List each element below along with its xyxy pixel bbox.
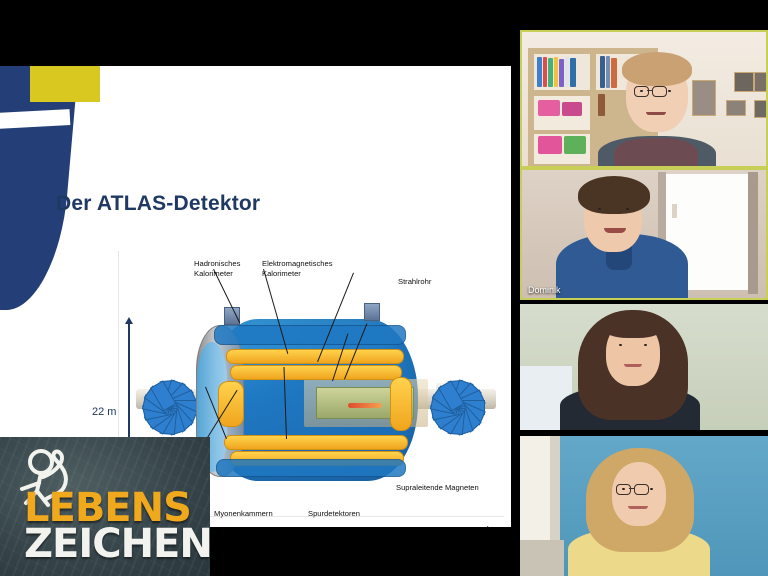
muon-chamber-top bbox=[214, 325, 406, 345]
callout-tracking-detectors: Spurdetektoren bbox=[308, 509, 360, 519]
window-latch-2 bbox=[672, 204, 677, 218]
participant-rail: Dominik bbox=[512, 0, 768, 576]
participant-3-mouth bbox=[624, 364, 642, 367]
participant-2-hair bbox=[578, 176, 650, 214]
book-3 bbox=[548, 58, 553, 87]
app-screen: Der ATLAS-Detektor bbox=[0, 0, 768, 576]
callout-muon-chambers: Myonenkammern bbox=[214, 509, 273, 519]
participant-2-eye-right bbox=[626, 208, 629, 210]
photo-frame-3 bbox=[754, 72, 766, 92]
pencil-cup bbox=[598, 94, 605, 116]
participant-tile-2[interactable]: Dominik bbox=[520, 168, 768, 300]
muon-chamber-bottom bbox=[216, 459, 406, 477]
participant-tile-3[interactable] bbox=[520, 304, 768, 430]
callout-hadronic-calorimeter-line2: Kalorimeter bbox=[194, 269, 233, 279]
photo-frame-2 bbox=[734, 72, 754, 92]
participant-3-eye-right bbox=[644, 344, 647, 346]
photo-frame-5 bbox=[754, 100, 766, 118]
photo-frame-1 bbox=[692, 80, 716, 116]
pink-box-2 bbox=[562, 102, 582, 116]
participant-4-eye-left bbox=[622, 488, 625, 490]
participant-video-4 bbox=[520, 436, 768, 576]
toroid-coil-bottom-1 bbox=[224, 435, 408, 450]
callout-em-calorimeter-line2: Kalorimeter bbox=[262, 269, 301, 279]
participant-1-mouth bbox=[646, 112, 666, 115]
slide-decor-blue-shape bbox=[0, 66, 79, 310]
book-8 bbox=[600, 56, 605, 88]
lebenszeichen-logo: LEBENS ZEICHEN bbox=[0, 437, 210, 576]
participant-1-eye-right bbox=[668, 90, 671, 92]
pink-box-3 bbox=[538, 136, 562, 154]
participant-1-scarf bbox=[614, 138, 698, 166]
slide-decor-yellow-shape bbox=[30, 66, 100, 102]
endcap-toroid-right bbox=[432, 345, 484, 455]
detector-barrel bbox=[208, 319, 418, 481]
window-frame-right-2 bbox=[748, 172, 758, 294]
toroid-coil-top-2 bbox=[230, 365, 402, 380]
logo-word-zeichen: ZEICHEN bbox=[24, 521, 210, 567]
book-10 bbox=[611, 58, 617, 88]
toroid-endring-left bbox=[218, 381, 244, 427]
callout-superconducting-magnets: Supraleitende Magneten bbox=[396, 483, 479, 493]
participant-2-name: Dominik bbox=[525, 284, 564, 296]
callout-hadronic-calorimeter-line1: Hadronisches bbox=[194, 259, 240, 269]
book-2 bbox=[543, 57, 547, 87]
toroid-endring-right bbox=[390, 377, 412, 431]
participant-1-eye-left bbox=[640, 90, 643, 92]
slide-title: Der ATLAS-Detektor bbox=[56, 192, 260, 216]
participant-3-bangs bbox=[602, 314, 664, 338]
interaction-point bbox=[348, 403, 382, 408]
service-box-right bbox=[364, 303, 380, 321]
participant-4-eye-right bbox=[650, 488, 653, 490]
participant-3-name bbox=[523, 426, 529, 428]
book-5 bbox=[559, 59, 564, 87]
book-6 bbox=[565, 57, 569, 87]
participant-1-hair bbox=[622, 52, 692, 86]
callout-em-calorimeter-line1: Elektromagnetisches bbox=[262, 259, 333, 269]
participant-4-name bbox=[523, 572, 529, 574]
participant-tile-4[interactable] bbox=[520, 436, 768, 576]
pink-box-1 bbox=[538, 100, 560, 116]
book-9 bbox=[606, 56, 610, 88]
photo-frame-4 bbox=[726, 100, 746, 116]
participant-3-eye-left bbox=[619, 344, 622, 346]
participant-1-name bbox=[525, 162, 531, 164]
window-4 bbox=[520, 436, 550, 540]
callout-beam-pipe: Strahlrohr bbox=[398, 277, 431, 287]
green-box-1 bbox=[564, 136, 586, 154]
participant-video-2 bbox=[522, 170, 766, 298]
book-7 bbox=[570, 58, 576, 87]
participant-video-1 bbox=[522, 32, 766, 166]
participant-4-mouth bbox=[628, 506, 648, 509]
participant-2-mouth bbox=[604, 228, 626, 233]
window-frame-4 bbox=[550, 436, 560, 540]
height-dimension-label: 22 m bbox=[92, 406, 116, 418]
book-1 bbox=[537, 57, 542, 87]
sideboard-4 bbox=[520, 540, 564, 576]
book-4 bbox=[554, 57, 558, 87]
toroid-coil-top-1 bbox=[226, 349, 404, 364]
participant-video-3 bbox=[520, 304, 768, 430]
participant-tile-1[interactable] bbox=[520, 30, 768, 168]
participant-2-eye-left bbox=[598, 208, 601, 210]
